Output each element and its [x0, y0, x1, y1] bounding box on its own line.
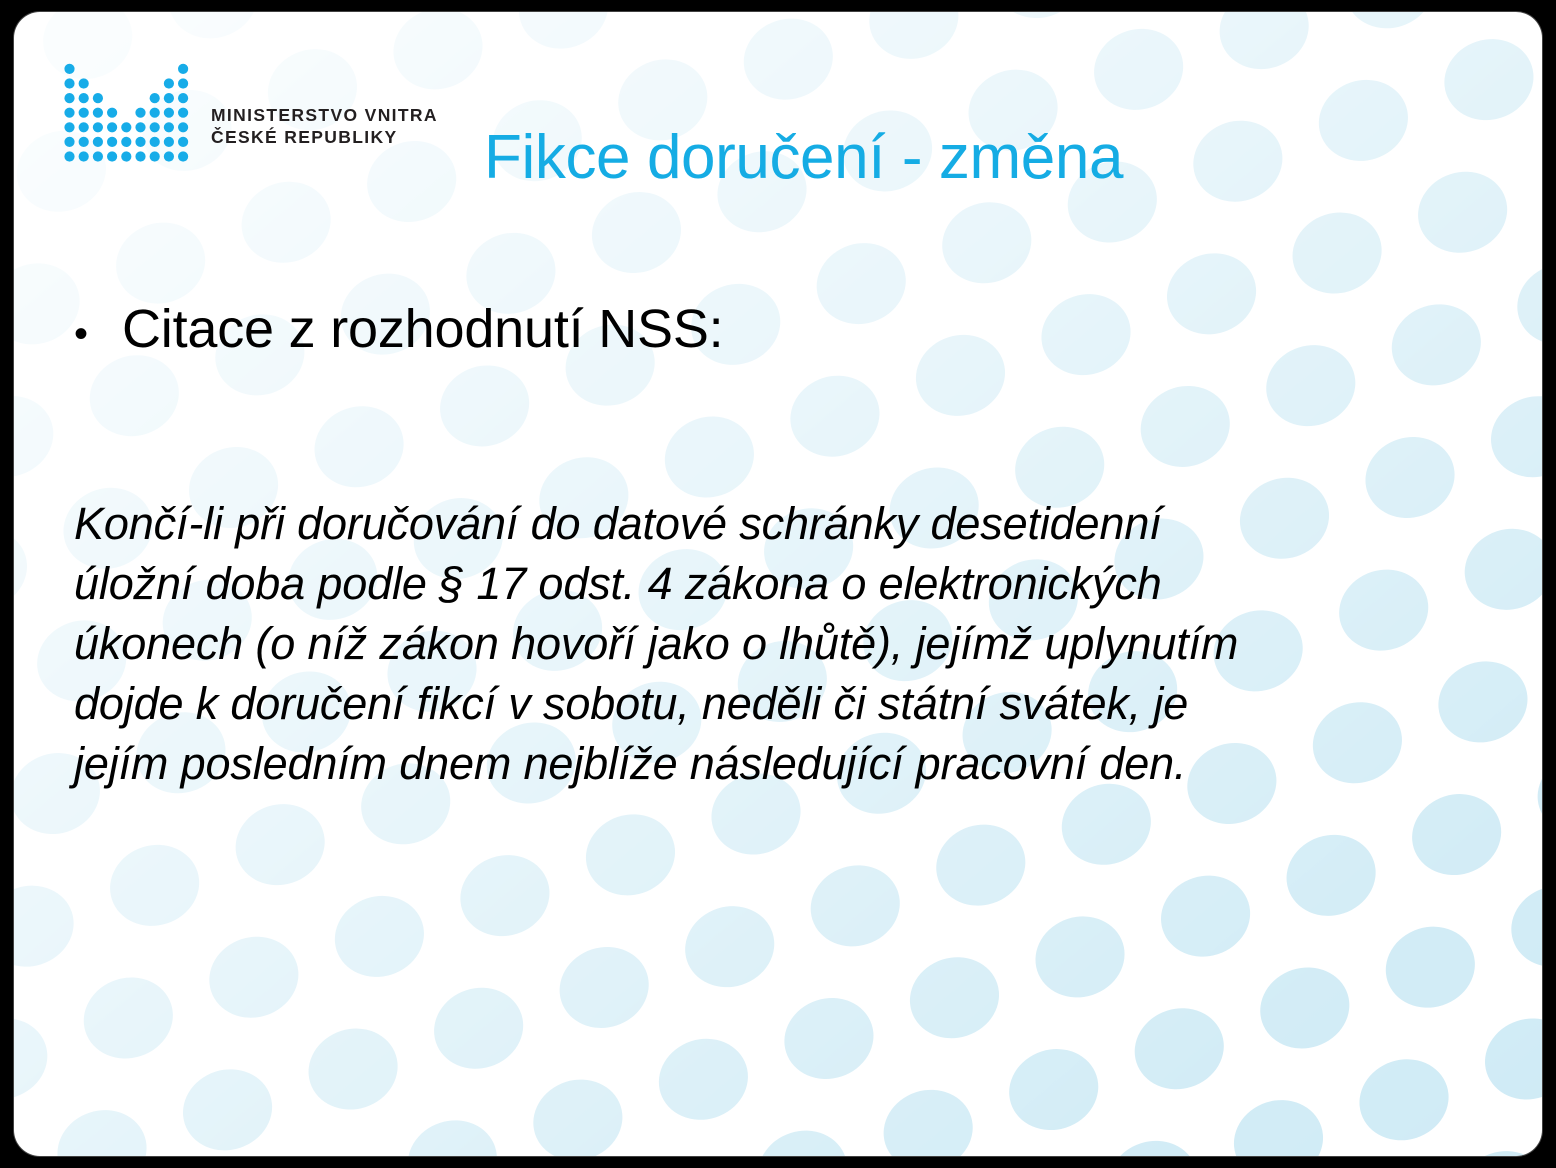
ministry-logo-line1: MINISTERSTVO VNITRA: [211, 105, 438, 127]
quote-line: úkonech (o níž zákon hovoří jako o lhůtě…: [74, 614, 1454, 674]
slide-title: Fikce doručení - změna: [484, 122, 1484, 193]
ministry-logo-text: MINISTERSTVO VNITRA ČESKÉ REPUBLIKY: [211, 75, 438, 148]
quote-line: dojde k doručení fikcí v sobotu, neděli …: [74, 674, 1454, 734]
quote-line: úložní doba podle § 17 odst. 4 zákona o …: [74, 554, 1454, 614]
bullet-marker-icon: •: [66, 314, 122, 354]
quotation-paragraph: Končí-li při doručování do datové schrán…: [74, 494, 1454, 794]
bullet-item: • Citace z rozhodnutí NSS:: [66, 298, 724, 360]
ministry-logo-icon: [62, 60, 194, 164]
slide-frame: MINISTERSTVO VNITRA ČESKÉ REPUBLIKY Fikc…: [0, 0, 1556, 1168]
bullet-item-label: Citace z rozhodnutí NSS:: [122, 298, 724, 360]
ministry-logo-line2: ČESKÉ REPUBLIKY: [211, 127, 438, 149]
slide-canvas: MINISTERSTVO VNITRA ČESKÉ REPUBLIKY Fikc…: [14, 12, 1542, 1156]
ministry-logo: MINISTERSTVO VNITRA ČESKÉ REPUBLIKY: [62, 60, 438, 164]
quote-line: jejím posledním dnem nejblíže následujíc…: [74, 734, 1454, 794]
quote-line: Končí-li při doručování do datové schrán…: [74, 494, 1454, 554]
